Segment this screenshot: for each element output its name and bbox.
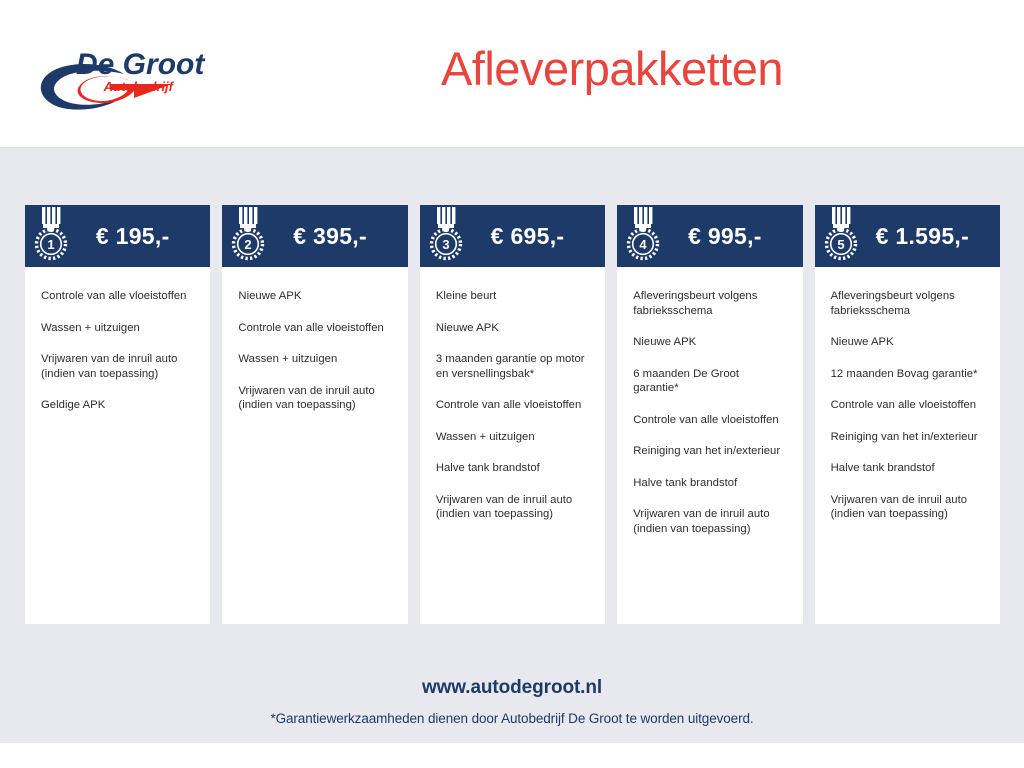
- feature-item: Kleine beurt: [436, 289, 589, 304]
- website-url[interactable]: www.autodegroot.nl: [0, 677, 1024, 699]
- package-price: € 695,-: [464, 223, 595, 250]
- divider-top: [0, 147, 1024, 148]
- feature-item: Controle van alle vloeistoffen: [436, 398, 589, 413]
- feature-item: Vrijwaren van de inruil auto(indien van …: [831, 493, 984, 522]
- feature-item: Vrijwaren van de inruil auto(indien van …: [436, 493, 589, 522]
- feature-item: Halve tank brandstof: [436, 461, 589, 476]
- package-card-header: 2 € 395,-: [222, 205, 407, 267]
- feature-item: Vrijwaren van de inruil auto(indien van …: [238, 384, 391, 413]
- package-card[interactable]: 5 € 1.595,- Afleveringsbeurt volgensfabr…: [815, 205, 1000, 624]
- package-card[interactable]: 3 € 695,- Kleine beurt Nieuwe APK 3 maan…: [420, 205, 605, 624]
- content-area: 1 € 195,- Controle van alle vloeistoffen…: [0, 147, 1024, 743]
- medal-icon: 2: [230, 206, 266, 262]
- feature-item: Afleveringsbeurt volgensfabrieksschema: [831, 289, 984, 318]
- package-features: Controle van alle vloeistoffen Wassen + …: [25, 267, 210, 624]
- badge-number: 1: [47, 237, 54, 252]
- package-card-header: 3 € 695,-: [420, 205, 605, 267]
- feature-item: 6 maanden De Groot garantie*: [633, 367, 786, 396]
- badge-number: 3: [442, 237, 449, 252]
- package-features: Nieuwe APK Controle van alle vloeistoffe…: [222, 267, 407, 624]
- package-card-header: 5 € 1.595,-: [815, 205, 1000, 267]
- medal-icon: 3: [428, 206, 464, 262]
- page-footer: www.autodegroot.nl *Garantiewerkzaamhede…: [0, 677, 1024, 726]
- feature-item: Controle van alle vloeistoffen: [633, 413, 786, 428]
- feature-item: Vrijwaren van de inruil auto(indien van …: [633, 507, 786, 536]
- badge-number: 5: [837, 237, 844, 252]
- warranty-disclaimer: *Garantiewerkzaamheden dienen door Autob…: [0, 711, 1024, 726]
- feature-item: Reiniging van het in/exterieur: [633, 444, 786, 459]
- feature-item: Halve tank brandstof: [633, 476, 786, 491]
- package-price: € 1.595,-: [859, 223, 990, 250]
- poster-page: De Groot Autobedrijf Afleverpakketten: [0, 0, 1024, 768]
- feature-item: Wassen + uitzuigen: [436, 430, 589, 445]
- feature-item: Vrijwaren van de inruil auto(indien van …: [41, 352, 194, 381]
- feature-item: Geldige APK: [41, 398, 194, 413]
- feature-item: Controle van alle vloeistoffen: [831, 398, 984, 413]
- feature-item: Afleveringsbeurt volgensfabrieksschema: [633, 289, 786, 318]
- package-cards: 1 € 195,- Controle van alle vloeistoffen…: [25, 205, 1000, 624]
- badge-number: 2: [245, 237, 252, 252]
- feature-item: Nieuwe APK: [633, 335, 786, 350]
- badge-number: 4: [640, 237, 648, 252]
- feature-item: Controle van alle vloeistoffen: [41, 289, 194, 304]
- feature-item: Halve tank brandstof: [831, 461, 984, 476]
- package-card[interactable]: 2 € 395,- Nieuwe APK Controle van alle v…: [222, 205, 407, 624]
- medal-icon: 5: [823, 206, 859, 262]
- page-title: Afleverpakketten: [0, 42, 1024, 96]
- feature-item: Reiniging van het in/exterieur: [831, 430, 984, 445]
- package-price: € 395,-: [266, 223, 397, 250]
- package-features: Kleine beurt Nieuwe APK 3 maanden garant…: [420, 267, 605, 624]
- package-features: Afleveringsbeurt volgensfabrieksschema N…: [617, 267, 802, 624]
- package-card-header: 1 € 195,-: [25, 205, 210, 267]
- package-card-header: 4 € 995,-: [617, 205, 802, 267]
- feature-item: Wassen + uitzuigen: [238, 352, 391, 367]
- feature-item: 3 maanden garantie op motoren versnellin…: [436, 352, 589, 381]
- feature-item: Nieuwe APK: [238, 289, 391, 304]
- package-card[interactable]: 4 € 995,- Afleveringsbeurt volgensfabrie…: [617, 205, 802, 624]
- medal-icon: 4: [625, 206, 661, 262]
- bottom-band: [0, 743, 1024, 768]
- package-price: € 995,-: [661, 223, 792, 250]
- feature-item: Wassen + uitzuigen: [41, 321, 194, 336]
- feature-item: Controle van alle vloeistoffen: [238, 321, 391, 336]
- page-header: De Groot Autobedrijf Afleverpakketten: [0, 0, 1024, 147]
- feature-item: Nieuwe APK: [436, 321, 589, 336]
- package-features: Afleveringsbeurt volgensfabrieksschema N…: [815, 267, 1000, 624]
- package-card[interactable]: 1 € 195,- Controle van alle vloeistoffen…: [25, 205, 210, 624]
- feature-item: 12 maanden Bovag garantie*: [831, 367, 984, 382]
- feature-item: Nieuwe APK: [831, 335, 984, 350]
- package-price: € 195,-: [69, 223, 200, 250]
- medal-icon: 1: [33, 206, 69, 262]
